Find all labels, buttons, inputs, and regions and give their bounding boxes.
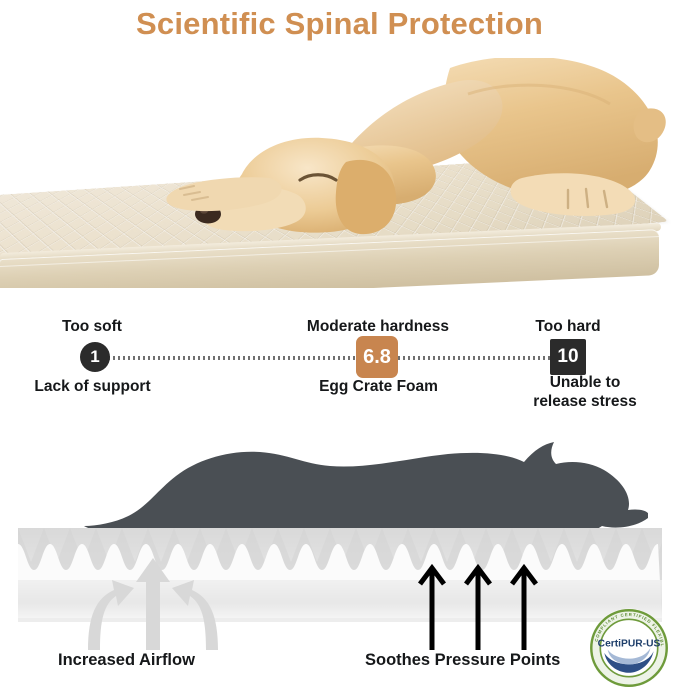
scale-middle-bottom-label: Egg Crate Foam <box>291 377 466 396</box>
foam-cross-section: Increased Airflow Soothes Pressure Point… <box>0 430 679 693</box>
dog-photo <box>150 58 670 238</box>
scale-left-top-label: Too soft <box>32 318 152 336</box>
scale-right-bottom-label: Unable to release stress <box>500 373 670 412</box>
scale-connector-left <box>108 356 356 360</box>
hardness-scale: Too soft 1 Lack of support Moderate hard… <box>0 310 679 420</box>
pressure-arrows-icon <box>418 558 538 650</box>
pressure-caption: Soothes Pressure Points <box>365 651 560 670</box>
scale-left-bottom-label: Lack of support <box>10 377 175 396</box>
scale-right-bottom-line2: release stress <box>533 393 636 410</box>
svg-text:CertiPUR-US: CertiPUR-US <box>598 638 661 649</box>
scale-marker-moderate: 6.8 <box>356 336 398 378</box>
page-title: Scientific Spinal Protection <box>0 0 679 48</box>
certipur-us-logo: COMPLIANT CERTIFIED FLEXIBLE POLYURETHAN… <box>588 607 670 689</box>
scale-connector-right <box>398 356 552 360</box>
airflow-arrows-icon <box>78 550 228 655</box>
scale-marker-too-hard: 10 <box>550 339 586 375</box>
scale-right-bottom-line1: Unable to <box>550 374 621 391</box>
scale-marker-too-soft: 1 <box>80 342 110 372</box>
hero-photo <box>0 48 679 288</box>
scale-right-top-label: Too hard <box>508 318 628 336</box>
airflow-caption: Increased Airflow <box>58 651 195 670</box>
product-infographic: Scientific Spinal Protection <box>0 0 679 693</box>
dog-bed-mattress <box>0 48 679 288</box>
scale-middle-top-label: Moderate hardness <box>282 318 474 336</box>
